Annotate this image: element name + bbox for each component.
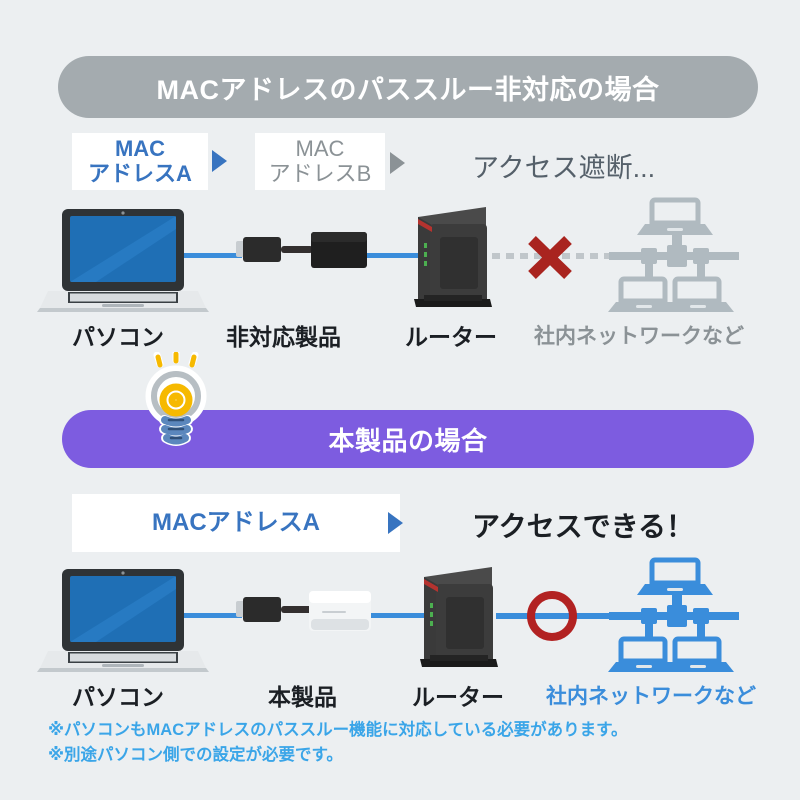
lightbulb-icon xyxy=(140,352,212,452)
footnote-2: ※別途パソコン側での設定が必要です。 xyxy=(48,743,627,768)
arrow-right-icon-1 xyxy=(212,150,227,172)
label-pc-top: パソコン xyxy=(72,318,164,352)
mac-address-a-text: MACアドレスA xyxy=(152,510,320,537)
mac-address-a-line1: MAC xyxy=(115,137,165,162)
diagram-product xyxy=(0,555,800,685)
footnotes: ※パソコンもMACアドレスのパススルー機能に対応している必要があります。 ※別途… xyxy=(48,718,627,768)
usb-connector-icon-top xyxy=(236,237,313,262)
mac-address-b-line1: MAC xyxy=(296,137,345,162)
laptop-icon-top xyxy=(37,209,209,312)
diagram-unsupported xyxy=(0,195,800,325)
mac-address-b-line2: アドレスB xyxy=(269,162,372,187)
section-header-unsupported: MACアドレスのパススルー非対応の場合 xyxy=(58,56,758,118)
network-diagram-blue xyxy=(608,560,739,672)
access-blocked-text: アクセス遮断... xyxy=(472,146,655,185)
black-adapter-icon xyxy=(311,232,367,268)
router-icon-top xyxy=(414,207,492,307)
arrow-right-icon-2 xyxy=(390,152,405,174)
mac-address-a-box-bottom: MACアドレスA xyxy=(72,494,400,552)
mac-address-a-box-top: MAC アドレスA xyxy=(72,133,208,190)
arrow-right-icon-3 xyxy=(388,512,403,534)
connected-link-line xyxy=(496,613,616,619)
cable-adapter-to-router-2 xyxy=(366,613,424,618)
label-product-bottom: 本製品 xyxy=(268,678,337,712)
laptop-icon-bottom xyxy=(37,569,209,672)
access-allowed-text: アクセスできる！ xyxy=(472,505,694,545)
label-product-top: 非対応製品 xyxy=(226,318,341,352)
label-network-bottom: 社内ネットワークなど xyxy=(546,680,756,710)
label-router-top: ルーター xyxy=(405,318,497,352)
router-icon-bottom xyxy=(420,567,498,667)
footnote-1: ※パソコンもMACアドレスのパススルー機能に対応している必要があります。 xyxy=(48,718,627,743)
mac-address-b-box: MAC アドレスB xyxy=(255,133,385,190)
network-diagram-gray xyxy=(608,200,739,312)
product-adapter-icon xyxy=(309,591,371,631)
label-network-top: 社内ネットワークなど xyxy=(534,320,744,350)
usb-connector-icon-bottom xyxy=(236,597,313,622)
label-pc-bottom: パソコン xyxy=(72,678,164,712)
label-router-bottom: ルーター xyxy=(412,678,504,712)
mac-address-a-line2: アドレスA xyxy=(88,162,192,187)
infographic-stage: MACアドレスのパススルー非対応の場合 MAC アドレスA MAC アドレスB … xyxy=(0,0,800,800)
